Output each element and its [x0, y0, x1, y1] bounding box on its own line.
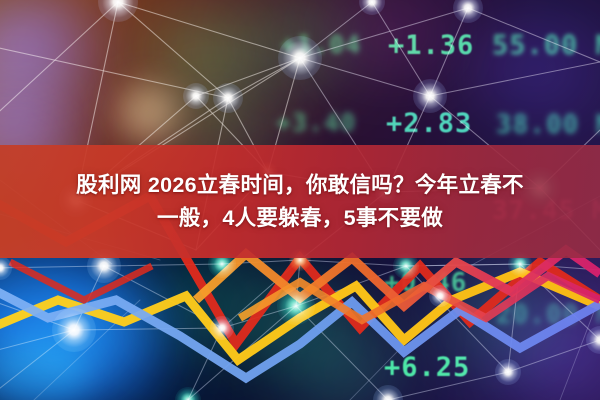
glow-node	[453, 0, 483, 23]
glow-node	[278, 36, 322, 80]
glow-node	[210, 316, 234, 340]
title-banner: 股利网 2026立春时间，你敢信吗？今年立春不 一般，4人要躲春，5事不要做	[0, 145, 600, 258]
glow-node	[429, 285, 451, 307]
title-line-2: 一般，4人要躲春，5事不要做	[157, 203, 443, 234]
glow-node	[52, 308, 96, 352]
glow-node	[183, 83, 209, 109]
glow-node	[373, 385, 403, 400]
promotional-banner-image: +1.04 +1.36 55.00 M +3.40 +2.83 38.00 M …	[0, 0, 600, 400]
glow-node	[213, 83, 243, 113]
glow-node	[586, 326, 600, 354]
glow-node	[98, 0, 138, 22]
glow-node	[175, 387, 201, 400]
glow-node	[413, 79, 447, 113]
title-line-1: 股利网 2026立春时间，你敢信吗？今年立春不	[76, 170, 524, 201]
glow-node	[359, 0, 385, 15]
glow-node	[495, 359, 521, 385]
glow-node	[0, 256, 12, 280]
glow-node	[277, 287, 315, 325]
